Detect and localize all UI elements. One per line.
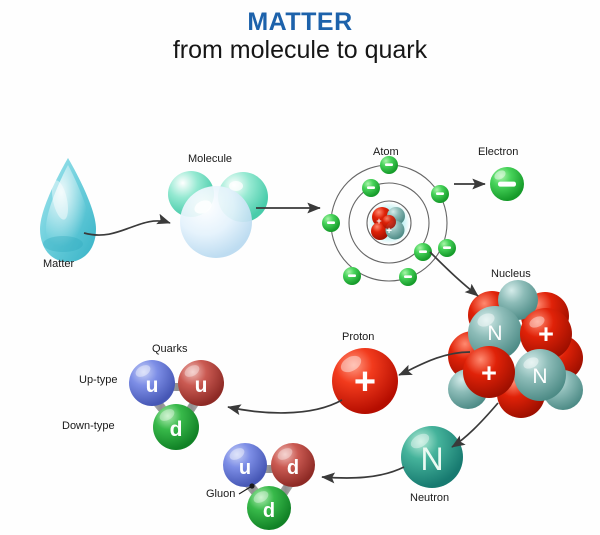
arrow-proton-to-quarks	[228, 400, 342, 413]
arrow-atom-to-nucleus	[430, 252, 478, 296]
label-matter: Matter	[43, 258, 74, 270]
arrow-nucleus-to-neutron	[452, 403, 498, 447]
nucleus-proton-label-1: +	[538, 319, 554, 349]
nucleus-neutron-label-1: N	[487, 322, 502, 345]
matter-droplet	[40, 158, 96, 262]
proton-charge-symbol: +	[354, 361, 376, 403]
nucleus-cluster: N + N +	[448, 280, 583, 418]
svg-text:+: +	[376, 216, 381, 226]
neutron-letter-symbol: N	[420, 441, 443, 477]
proton-quark-label-u1: u	[146, 374, 159, 397]
matter-diagram-canvas: MATTER from molecule to quark	[0, 0, 600, 535]
proton-quark-label-d: d	[170, 418, 183, 441]
nucleus-neutron-label-2: N	[532, 365, 547, 388]
molecule-model	[168, 171, 268, 258]
electron-particle	[490, 167, 524, 201]
label-atom: Atom	[373, 146, 399, 158]
neutron-quark-label-d1: d	[287, 457, 299, 479]
svg-text:+: +	[386, 226, 392, 237]
label-electron: Electron	[478, 146, 518, 158]
neutron-particle: N	[401, 426, 463, 488]
label-gluon: Gluon	[206, 488, 235, 500]
nucleus-proton-label-2: +	[481, 358, 497, 388]
proton-particle: +	[332, 348, 398, 414]
neutron-quark-structure: u d d	[223, 443, 315, 530]
label-molecule: Molecule	[188, 153, 232, 165]
label-up-type: Up-type	[79, 374, 118, 386]
label-down-type: Down-type	[62, 420, 115, 432]
arrow-matter-to-molecule	[84, 221, 170, 235]
label-nucleus: Nucleus	[491, 268, 531, 280]
neutron-quark-label-d2: d	[263, 500, 275, 522]
atom-model: + +	[322, 156, 456, 286]
proton-quark-label-u2: u	[195, 374, 208, 397]
neutron-quark-label-u: u	[239, 457, 251, 479]
label-quarks: Quarks	[152, 343, 187, 355]
label-proton: Proton	[342, 331, 374, 343]
proton-quark-structure: u u d	[129, 360, 224, 450]
arrow-neutron-to-quarks	[322, 467, 404, 478]
label-neutron: Neutron	[410, 492, 449, 504]
